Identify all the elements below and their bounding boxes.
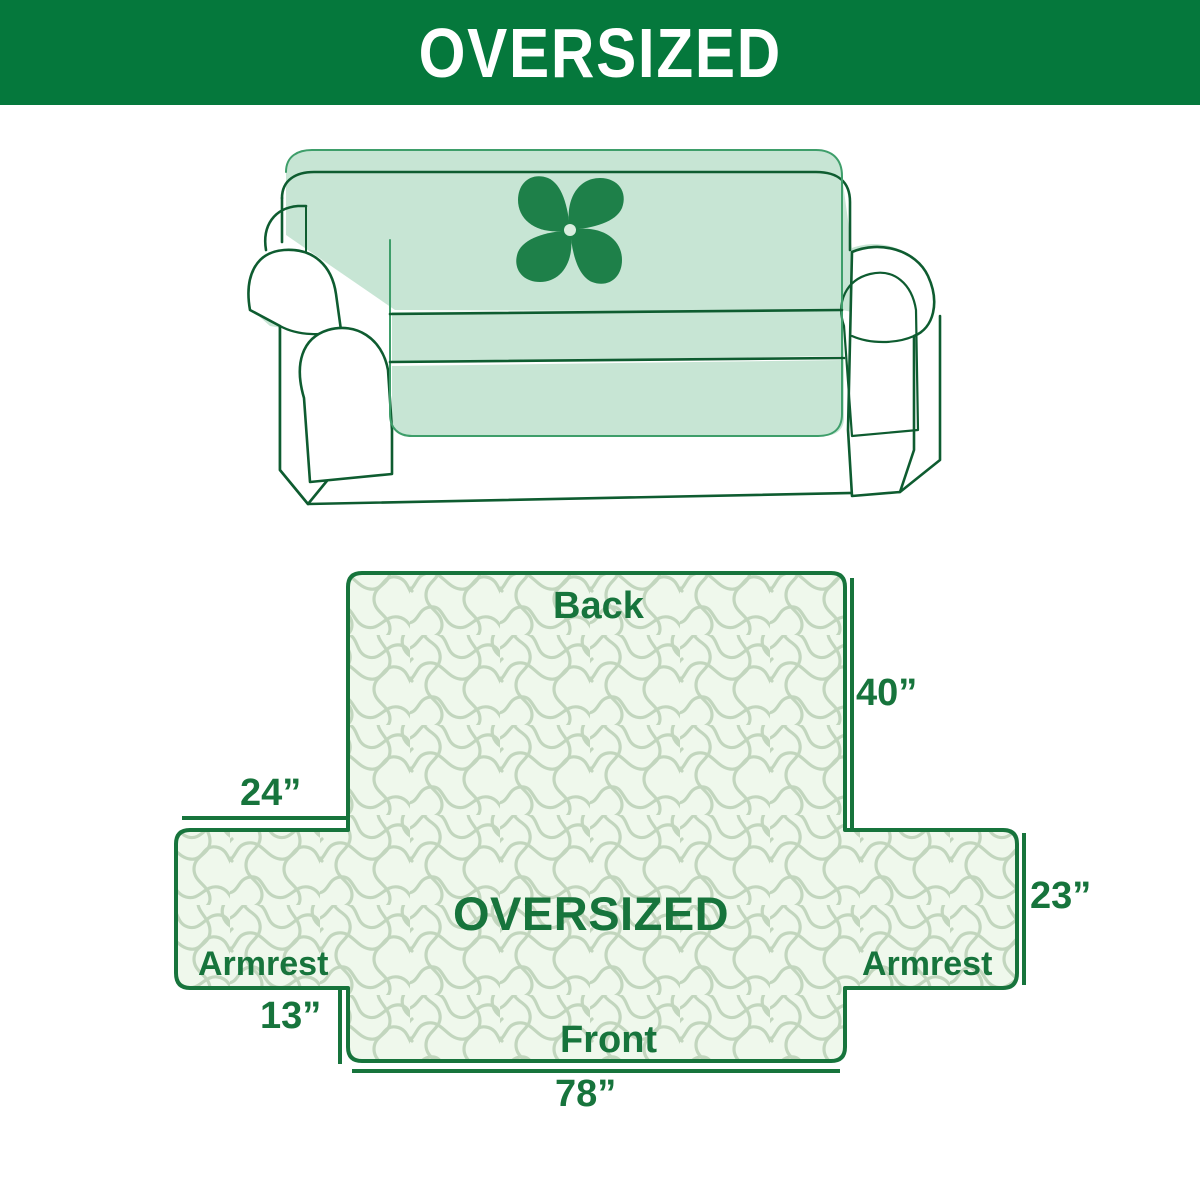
sofa-drawing — [240, 130, 980, 520]
page-title: OVERSIZED — [418, 18, 781, 88]
flat-layout-diagram: Back OVERSIZED Armrest Armrest Front 40”… — [140, 545, 1080, 1135]
sofa-right-arm — [841, 247, 934, 496]
flat-layout-svg — [140, 545, 1080, 1135]
sofa-illustration — [240, 130, 980, 520]
header-banner: OVERSIZED — [0, 0, 1200, 105]
